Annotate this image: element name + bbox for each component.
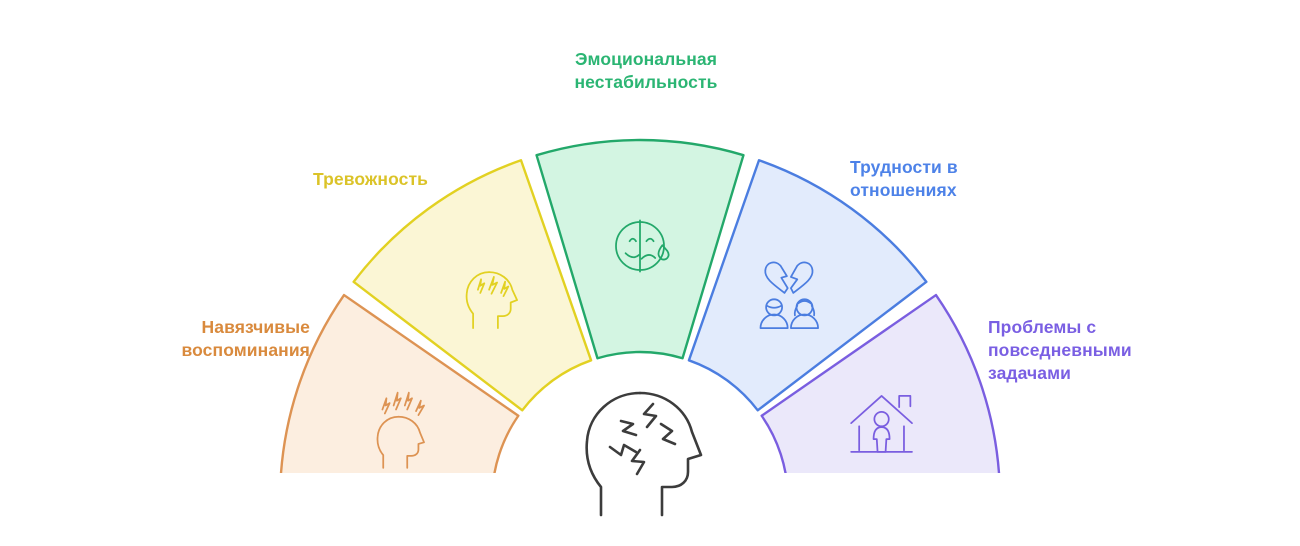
segment-label-daily: Проблемы с повседневными задачами	[988, 316, 1238, 385]
segment-label-intrusive: Навязчивые воспоминания	[110, 316, 310, 362]
segment-label-relationships: Трудности в отношениях	[850, 156, 1060, 202]
segment-label-emotional: Эмоциональная нестабильность	[536, 48, 756, 94]
infographic-canvas: Навязчивые воспоминания Тревожность Эмоц…	[0, 0, 1300, 546]
segment-label-anxiety: Тревожность	[208, 168, 428, 191]
head-with-zigzag-thoughts-icon	[587, 393, 701, 515]
